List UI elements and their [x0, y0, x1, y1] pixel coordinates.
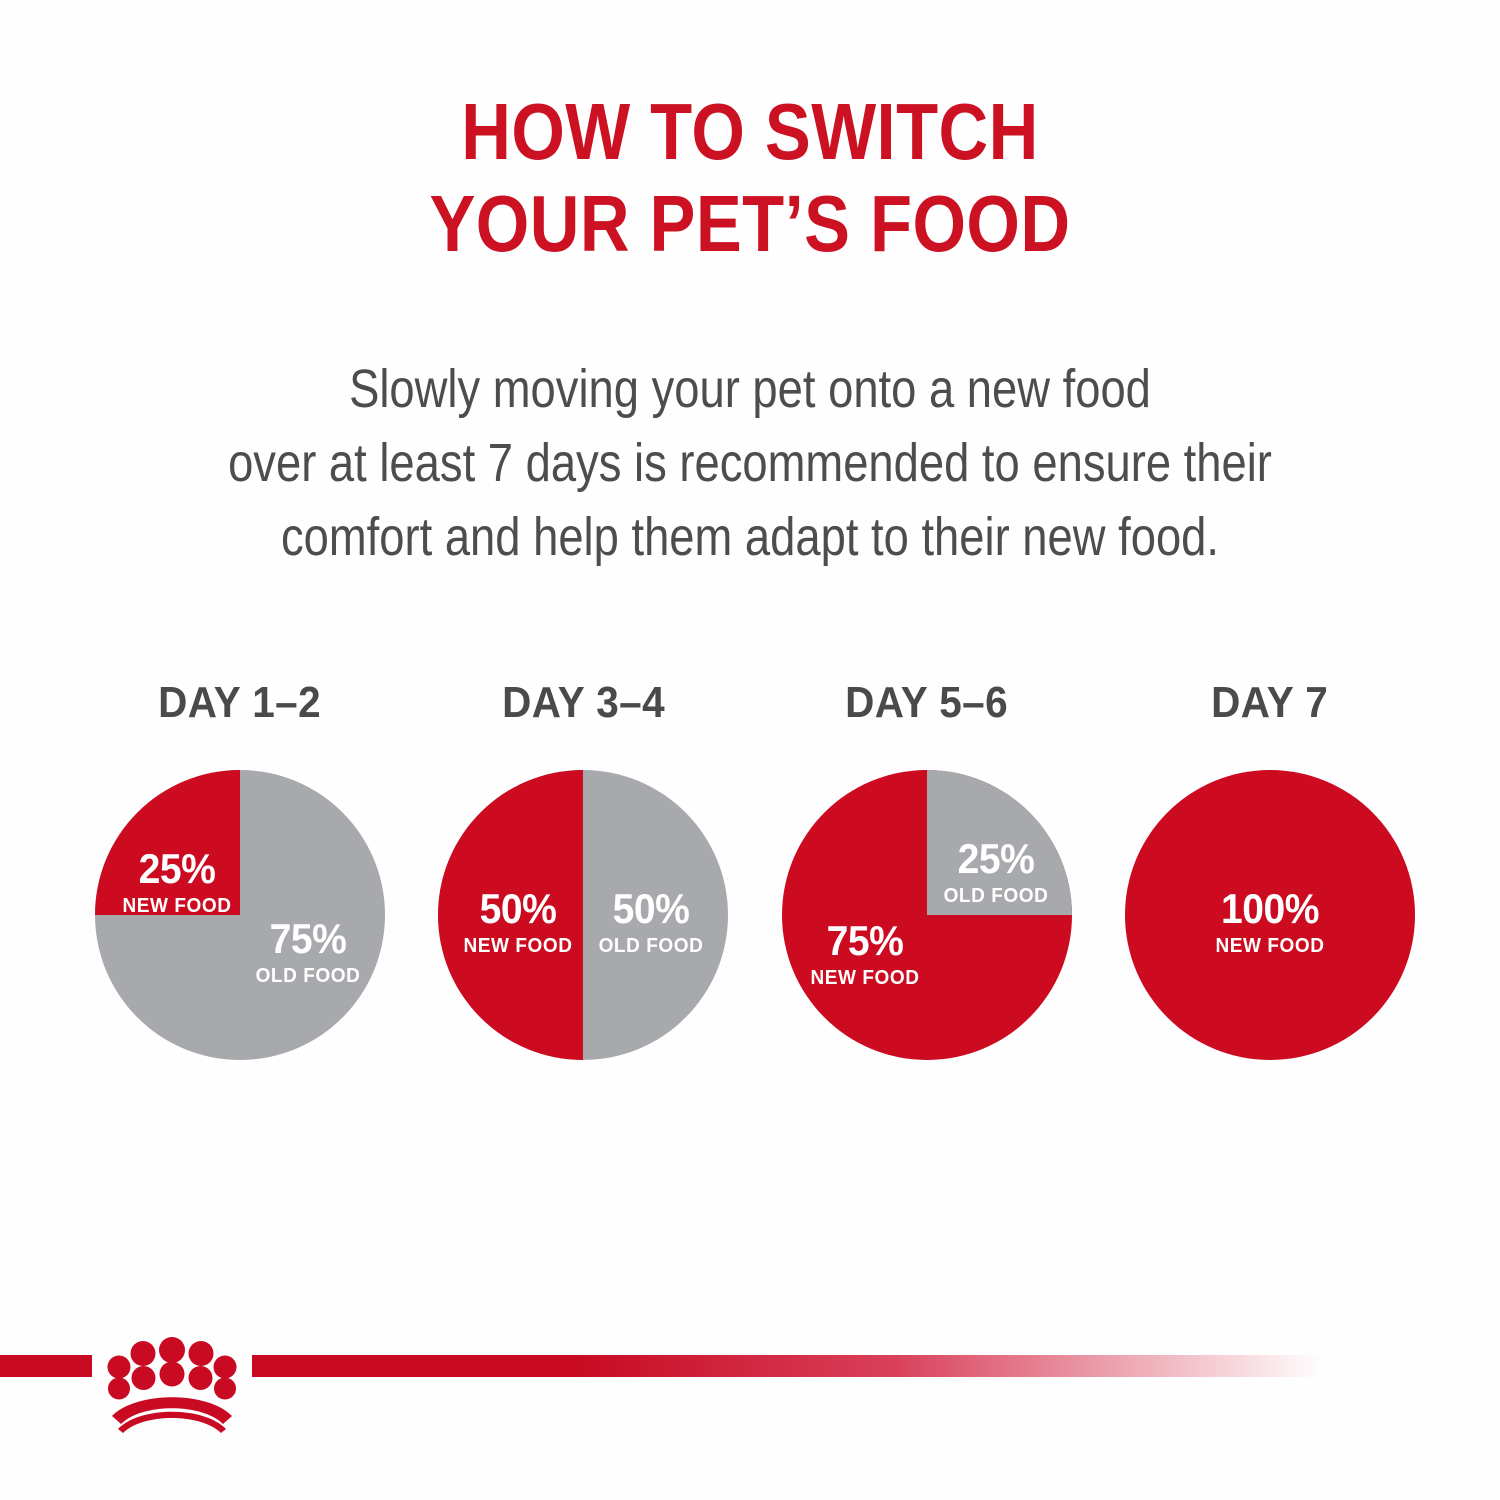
page-subtitle: Slowly moving your pet onto a new food o…	[0, 352, 1500, 574]
day-label-4: DAY 7	[1211, 678, 1328, 728]
pie-svg-2	[438, 770, 728, 1060]
day-label-1: DAY 1–2	[158, 678, 321, 728]
pie-slice-new-food-4	[1125, 770, 1415, 1060]
chart-cell-day-3-4: DAY 3–4 50% NEW FOOD 50% OLD FOOD	[433, 678, 733, 1060]
footer-bar-right	[252, 1355, 1322, 1377]
subtitle-line-3: comfort and help them adapt to their new…	[120, 500, 1380, 574]
pie-slice-new-food-2	[438, 770, 583, 1060]
footer-bar-left	[0, 1355, 92, 1377]
pie-chart-row: DAY 1–2 25% NEW FOOD 75% OLD FOOD	[90, 678, 1420, 1060]
title-line-2: YOUR PET’S FOOD	[105, 178, 1395, 270]
pie-svg-3	[782, 770, 1072, 1060]
pie-slice-new-food-1	[95, 770, 240, 915]
pie-svg-4	[1125, 770, 1415, 1060]
pie-chart-day-7: 100% NEW FOOD	[1125, 770, 1415, 1060]
chart-cell-day-1-2: DAY 1–2 25% NEW FOOD 75% OLD FOOD	[90, 678, 390, 1060]
subtitle-line-1: Slowly moving your pet onto a new food	[120, 352, 1380, 426]
chart-cell-day-5-6: DAY 5–6 25% OLD FOOD 75% NEW FOOD	[777, 678, 1077, 1060]
day-label-2: DAY 3–4	[502, 678, 665, 728]
pie-chart-day-1-2: 25% NEW FOOD 75% OLD FOOD	[95, 770, 385, 1060]
footer	[0, 1336, 1500, 1500]
day-label-3: DAY 5–6	[845, 678, 1008, 728]
crown-logo-svg	[92, 1336, 252, 1436]
pie-slice-old-food-3	[927, 770, 1072, 915]
chart-cell-day-7: DAY 7 100% NEW FOOD	[1120, 678, 1420, 1060]
pie-chart-day-5-6: 25% OLD FOOD 75% NEW FOOD	[782, 770, 1072, 1060]
pie-chart-day-3-4: 50% NEW FOOD 50% OLD FOOD	[438, 770, 728, 1060]
infographic-page: HOW TO SWITCH YOUR PET’S FOOD Slowly mov…	[0, 0, 1500, 1500]
title-line-1: HOW TO SWITCH	[105, 86, 1395, 178]
page-title: HOW TO SWITCH YOUR PET’S FOOD	[0, 86, 1500, 270]
royal-canin-crown-icon	[92, 1336, 252, 1436]
subtitle-line-2: over at least 7 days is recommended to e…	[120, 426, 1380, 500]
pie-svg-1	[95, 770, 385, 1060]
